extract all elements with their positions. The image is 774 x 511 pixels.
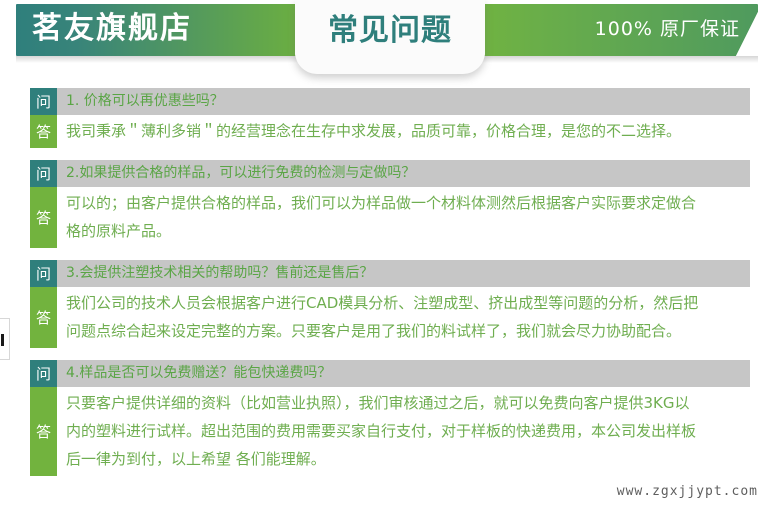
faq-answer-text: 我司秉承＂薄利多销＂的经营理念在生存中求发展，品质可靠，价格合理，是您的不二选择… bbox=[57, 115, 750, 148]
question-badge: 问 bbox=[30, 88, 57, 115]
faq-answer-line: 问题点综合起来设定完整的方案。只要客户是用了我们的料试样了，我们就会尽力协助配合… bbox=[66, 317, 744, 345]
faq-question-text: 2.如果提供合格的样品，可以进行免费的检测与定做吗？ bbox=[57, 160, 750, 187]
faq-question-row[interactable]: 问2.如果提供合格的样品，可以进行免费的检测与定做吗？ bbox=[30, 160, 774, 187]
faq-answer-line: 内的塑料进行试样。超出范围的费用需要买家自行支付，对于样板的快递费用，本公司发出… bbox=[66, 417, 744, 445]
question-badge: 问 bbox=[30, 160, 57, 187]
faq-list: 问1. 价格可以再优惠些吗？答我司秉承＂薄利多销＂的经营理念在生存中求发展，品质… bbox=[0, 88, 774, 488]
faq-question-text: 3.会提供注塑技术相关的帮助吗？售前还是售后？ bbox=[57, 260, 750, 287]
faq-question-text: 4.样品是否可以免费赠送？能包快递费吗？ bbox=[57, 360, 750, 387]
faq-item: 问4.样品是否可以免费赠送？能包快递费吗？答只要客户提供详细的资料（比如营业执照… bbox=[0, 360, 774, 476]
answer-badge: 答 bbox=[30, 387, 57, 476]
faq-item: 问2.如果提供合格的样品，可以进行免费的检测与定做吗？答可以的；由客户提供合格的… bbox=[0, 160, 774, 248]
faq-answer-row: 答只要客户提供详细的资料（比如营业执照），我们审核通过之后，就可以免费向客户提供… bbox=[30, 387, 774, 476]
faq-answer-text: 只要客户提供详细的资料（比如营业执照），我们审核通过之后，就可以免费向客户提供3… bbox=[57, 387, 750, 476]
answer-badge: 答 bbox=[30, 287, 57, 348]
page-title: 常见问题 bbox=[295, 0, 485, 62]
faq-answer-line: 格的原料产品。 bbox=[66, 217, 744, 245]
page-header: 茗友旗舰店 100% 原厂保证 常见问题 bbox=[0, 0, 774, 58]
faq-answer-line: 可以的；由客户提供合格的样品，我们可以为样品做一个材料体测然后根据客户实际要求定… bbox=[66, 189, 744, 217]
site-watermark: www.zgxjjypt.com bbox=[617, 484, 758, 499]
faq-question-row[interactable]: 问1. 价格可以再优惠些吗？ bbox=[30, 88, 774, 115]
question-badge: 问 bbox=[30, 260, 57, 287]
faq-answer-line: 只要客户提供详细的资料（比如营业执照），我们审核通过之后，就可以免费向客户提供3… bbox=[66, 389, 744, 417]
guarantee-label: 100% 原厂保证 bbox=[595, 10, 740, 48]
faq-item: 问3.会提供注塑技术相关的帮助吗？售前还是售后？答我们公司的技术人员会根据客户进… bbox=[0, 260, 774, 348]
shop-name: 茗友旗舰店 bbox=[32, 6, 192, 52]
faq-answer-line: 后一律为到付，以上希望 各们能理解。 bbox=[66, 445, 744, 473]
faq-answer-text: 我们公司的技术人员会根据客户进行CAD模具分析、注塑成型、挤出成型等问题的分析，… bbox=[57, 287, 750, 348]
faq-answer-line: 我们公司的技术人员会根据客户进行CAD模具分析、注塑成型、挤出成型等问题的分析，… bbox=[66, 289, 744, 317]
question-badge: 问 bbox=[30, 360, 57, 387]
faq-item: 问1. 价格可以再优惠些吗？答我司秉承＂薄利多销＂的经营理念在生存中求发展，品质… bbox=[0, 88, 774, 148]
answer-badge: 答 bbox=[30, 115, 57, 148]
faq-question-row[interactable]: 问4.样品是否可以免费赠送？能包快递费吗？ bbox=[30, 360, 774, 387]
faq-answer-row: 答我们公司的技术人员会根据客户进行CAD模具分析、注塑成型、挤出成型等问题的分析… bbox=[30, 287, 774, 348]
edge-artifact-mark bbox=[1, 334, 4, 346]
edge-artifact bbox=[0, 318, 10, 360]
faq-title-tab: 常见问题 bbox=[295, 0, 485, 74]
faq-answer-row: 答可以的；由客户提供合格的样品，我们可以为样品做一个材料体测然后根据客户实际要求… bbox=[30, 187, 774, 248]
faq-answer-line: 我司秉承＂薄利多销＂的经营理念在生存中求发展，品质可靠，价格合理，是您的不二选择… bbox=[66, 117, 744, 145]
faq-answer-text: 可以的；由客户提供合格的样品，我们可以为样品做一个材料体测然后根据客户实际要求定… bbox=[57, 187, 750, 248]
faq-question-row[interactable]: 问3.会提供注塑技术相关的帮助吗？售前还是售后？ bbox=[30, 260, 774, 287]
answer-badge: 答 bbox=[30, 187, 57, 248]
faq-question-text: 1. 价格可以再优惠些吗？ bbox=[57, 88, 750, 115]
faq-answer-row: 答我司秉承＂薄利多销＂的经营理念在生存中求发展，品质可靠，价格合理，是您的不二选… bbox=[30, 115, 774, 148]
